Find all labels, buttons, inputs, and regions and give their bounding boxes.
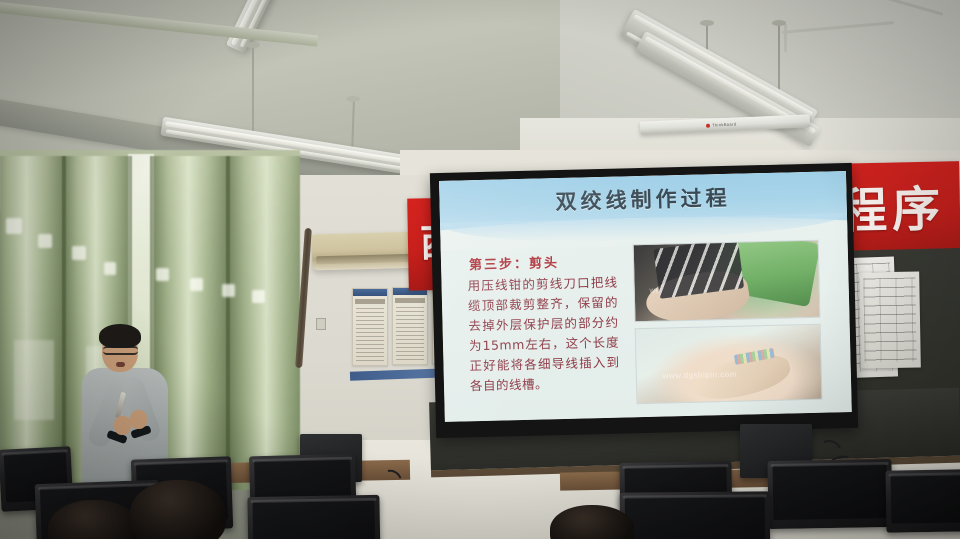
light-hanger-plate-5 [772,20,786,26]
slide-body-text: 用压线钳的剪线刀口把线缆顶部裁剪整齐，保留的去掉外层保护层的部分约为15mm左右… [467,273,620,397]
light-hanger-plate-3 [346,96,360,102]
brand-dot-icon [706,124,710,128]
monitor-edge-right [885,469,960,532]
window-light-patch [156,268,169,281]
presenter-right-hand [130,410,147,429]
light-hanger-plate-4 [700,20,714,26]
monitor-bezel [134,459,228,465]
photo-watermark: www.dgshipin.com [649,284,723,295]
monitor-bezel [252,457,352,463]
monitor-front-center [247,495,380,539]
poster-title-bar [395,298,425,303]
notice-sheet-2 [859,271,921,368]
window-light-patch [6,218,22,234]
window-light-patch [252,290,265,303]
monitor-bezel [38,483,156,490]
window-light-patch [104,262,116,275]
projector-screen: 双绞线制作过程 第三步：剪头 用压线钳的剪线刀口把线缆顶部裁剪整齐，保留的去掉外… [430,163,858,438]
slide-photo-crimping-tool: www.dgshipin.com [633,240,821,323]
slide-photo-cable-wires: www.dgshipin.com [635,324,823,405]
presenter-left-hand [114,416,131,435]
photo-watermark: www.dgshipin.com [662,370,736,381]
poster-header-bar [353,289,387,296]
hand-illustration [643,266,752,322]
monitor-bezel [770,462,888,467]
window-light-patch [38,234,52,248]
wall-socket [316,318,326,330]
presenter-mouth [116,362,125,367]
monitor-bezel [889,472,960,476]
presenter-hair [99,324,141,348]
housing-brand-label: ThinkBoard [712,122,737,128]
projection-surface: 双绞线制作过程 第三步：剪头 用压线钳的剪线刀口把线缆顶部裁剪整齐，保留的去掉外… [439,171,852,422]
monitor-front-right [620,491,771,539]
monitor-bezel [250,498,376,503]
window-light-patch [222,284,235,297]
poster-text-lines [396,307,424,360]
student-head-2 [130,480,226,539]
monitor-bezel [622,464,728,469]
glasses-icon [103,346,138,355]
notice-table-grid [863,278,916,363]
monitor-bezel [623,494,767,498]
window-light-patch [190,278,203,291]
poster-text-lines [356,308,384,361]
wall-poster-1 [352,288,388,366]
curtain-panel [0,156,66,490]
slide-step-label: 第三步：剪头 [469,252,559,273]
monitor-bezel [2,449,68,455]
monitor-far-right [767,459,892,529]
ac-vent [316,254,418,265]
window-light-patch [72,246,86,260]
classroom-photo: 西 届程序 ThinkBoard 双绞线制作过程 第三步：剪头 用压线钳的剪线刀… [0,0,960,539]
air-conditioner [312,232,423,271]
light-hanger-plate-2 [246,42,260,48]
ceiling-conduit-3 [784,24,787,52]
presentation-slide: 双绞线制作过程 第三步：剪头 用压线钳的剪线刀口把线缆顶部裁剪整齐，保留的去掉外… [439,171,852,422]
curtain-panel [226,156,300,490]
poster-title-bar [355,299,385,304]
wall-poster-2 [392,287,428,365]
window-light-patch [14,340,54,420]
